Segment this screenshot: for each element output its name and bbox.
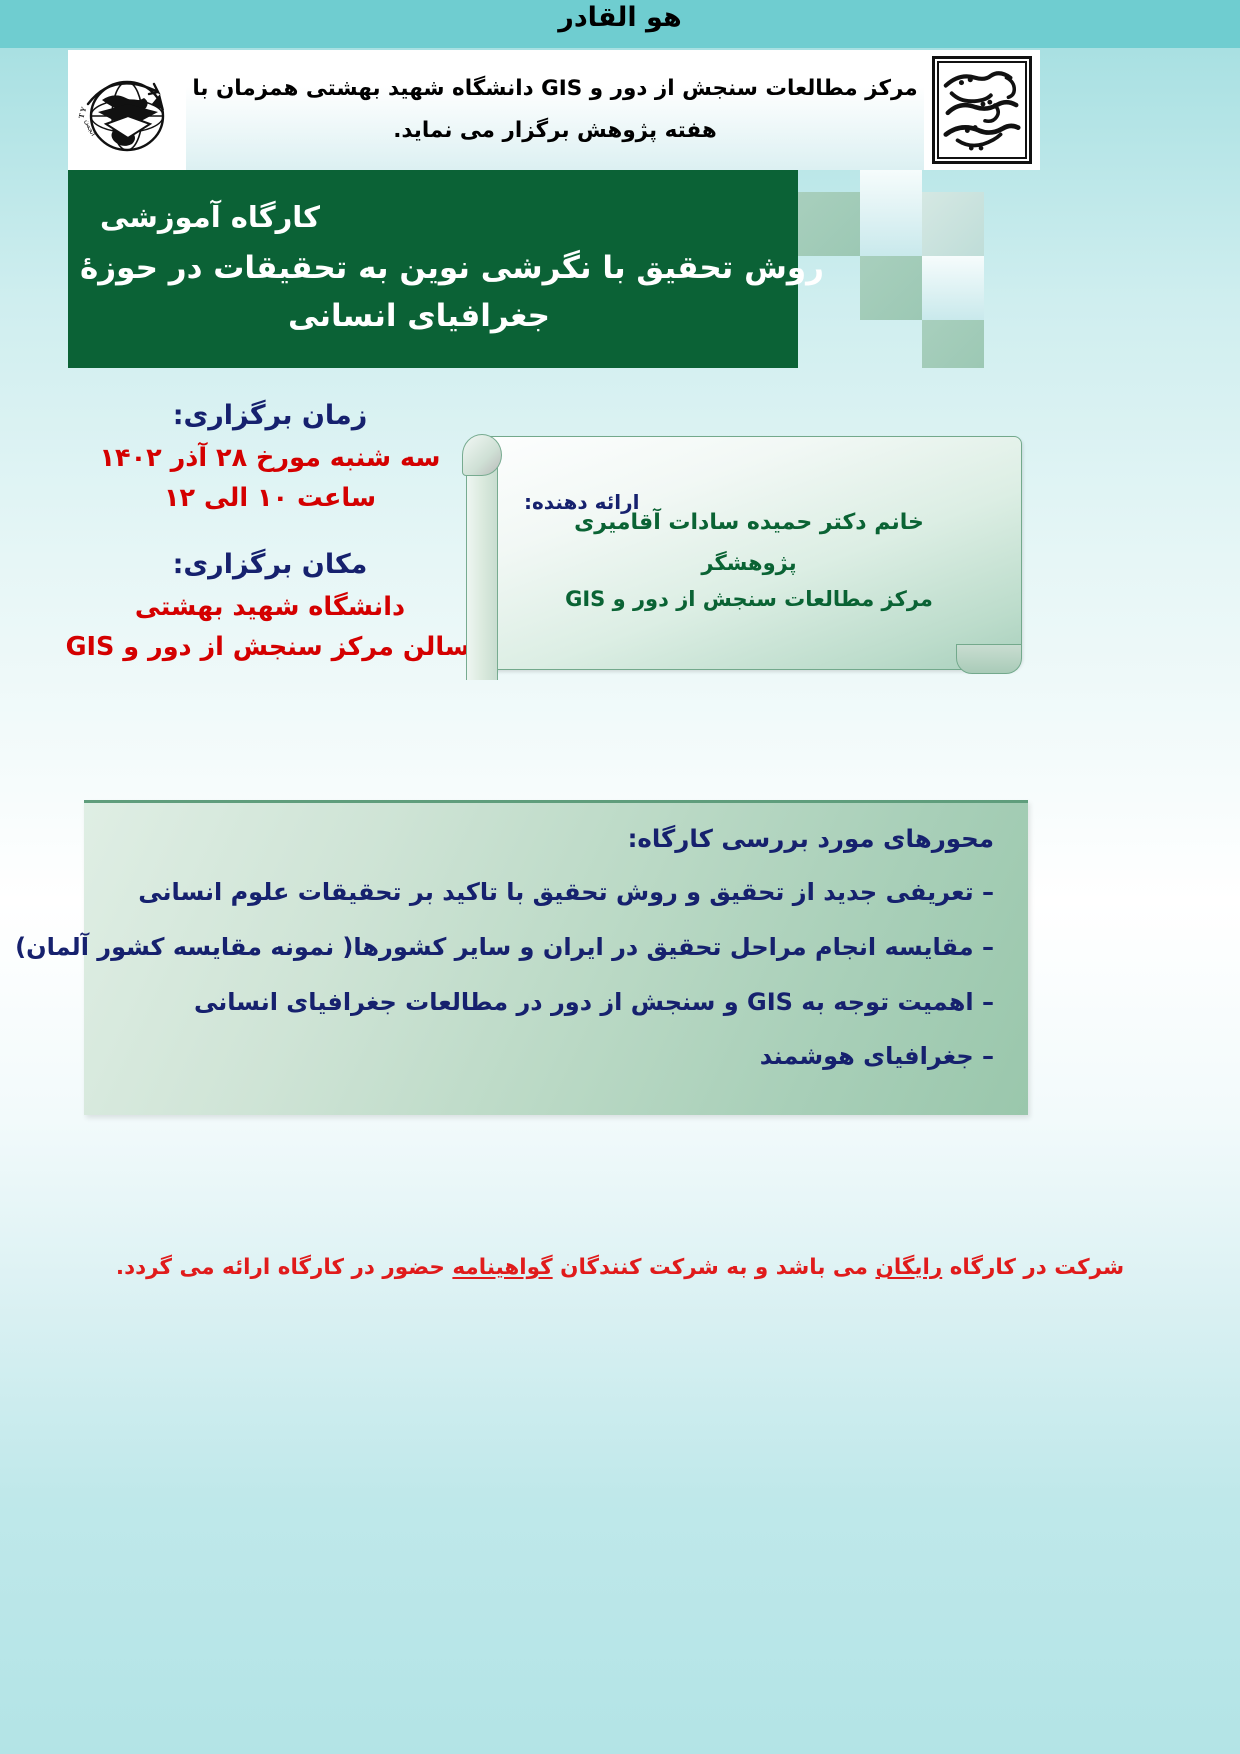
presenter-scroll: ارائه دهنده: خانم دکتر حمیده سادات آقامی… [452, 430, 1022, 680]
workshop-title-line-1: روش تحقیق با نگرشی نوین به تحقیقات در حو… [80, 244, 824, 292]
event-details: زمان برگزاری: سه شنبه مورخ ۲۸ آذر ۱۴۰۲ س… [70, 400, 470, 672]
topic-item-1: – تعریفی جدید از تحقیق و روش تحقیق با تا… [118, 875, 994, 910]
header-announcement: مرکز مطالعات سنجش از دور و GIS دانشگاه ش… [190, 54, 920, 166]
footer-certificate-word: گواهینامه [452, 1255, 552, 1280]
place-line-1: دانشگاه شهید بهشتی [70, 592, 470, 622]
place-label: مکان برگزاری: [70, 549, 470, 580]
scroll-left-spine [466, 444, 498, 680]
footer-part-2: می باشد و به شرکت کنندگان [553, 1255, 876, 1280]
topics-heading: محورهای مورد بررسی کارگاه: [118, 824, 994, 853]
poster-canvas: هو القادر مرکز مطالعات سنجش از دور و GIS… [0, 0, 1240, 1754]
presenter-organization: مرکز مطالعات سنجش از دور و GIS [510, 587, 988, 611]
svg-text:IRANIAN RS & GIS SOCIETY: IRANIAN RS & GIS SOCIETY [68, 50, 89, 119]
deco-tile-6 [922, 320, 984, 368]
topic-item-3: – اهمیت توجه به GIS و سنجش از دور در مطا… [118, 985, 994, 1020]
deco-tile-5 [922, 256, 984, 320]
time-label: زمان برگزاری: [70, 400, 470, 431]
deco-tile-4 [860, 256, 922, 320]
header-line-1: مرکز مطالعات سنجش از دور و GIS دانشگاه ش… [192, 68, 917, 110]
bismillah-text: هو القادر [0, 2, 1240, 33]
presenter-name: خانم دکتر حمیده سادات آقامیری [510, 510, 988, 535]
event-date: سه شنبه مورخ ۲۸ آذر ۱۴۰۲ [70, 443, 470, 473]
topic-item-4: – جغرافیای هوشمند [118, 1039, 994, 1074]
spacer [70, 523, 470, 549]
event-hours: ساعت ۱۰ الی ۱۲ [70, 483, 470, 513]
shahid-beheshti-university-logo [924, 50, 1040, 170]
sbu-logo-frame [932, 56, 1032, 164]
scroll-top-curl [462, 434, 502, 476]
workshop-title-line-2: جغرافیای انسانی [288, 292, 550, 340]
place-line-2: سالن مرکز سنجش از دور و GIS [70, 632, 470, 662]
deco-tile-3 [922, 192, 984, 256]
registration-note: شرکت در کارگاه رایگان می باشد و به شرکت … [70, 1255, 1170, 1280]
workshop-title-text: کارگاه آموزشی روش تحقیق با نگرشی نوین به… [80, 172, 780, 368]
presenter-role: پژوهشگر [510, 551, 988, 575]
topic-item-2: – مقایسه انجام مراحل تحقیق در ایران و سا… [118, 930, 994, 965]
iranian-rs-gis-society-logo: IRANIAN RS & GIS SOCIETY انجمن سنجش از د… [68, 50, 186, 170]
footer-part-1: شرکت در کارگاه [942, 1255, 1124, 1280]
deco-tile-2 [860, 170, 922, 256]
presenter-info: ارائه دهنده: خانم دکتر حمیده سادات آقامی… [510, 456, 988, 656]
workshop-kicker: کارگاه آموزشی [80, 200, 320, 234]
footer-part-3: حضور در کارگاه ارائه می گردد. [116, 1255, 452, 1280]
header-line-2: هفته پژوهش برگزار می نماید. [393, 110, 717, 152]
topics-content: محورهای مورد بررسی کارگاه: – تعریفی جدید… [84, 800, 1028, 1112]
footer-free-word: رایگان [875, 1255, 942, 1280]
